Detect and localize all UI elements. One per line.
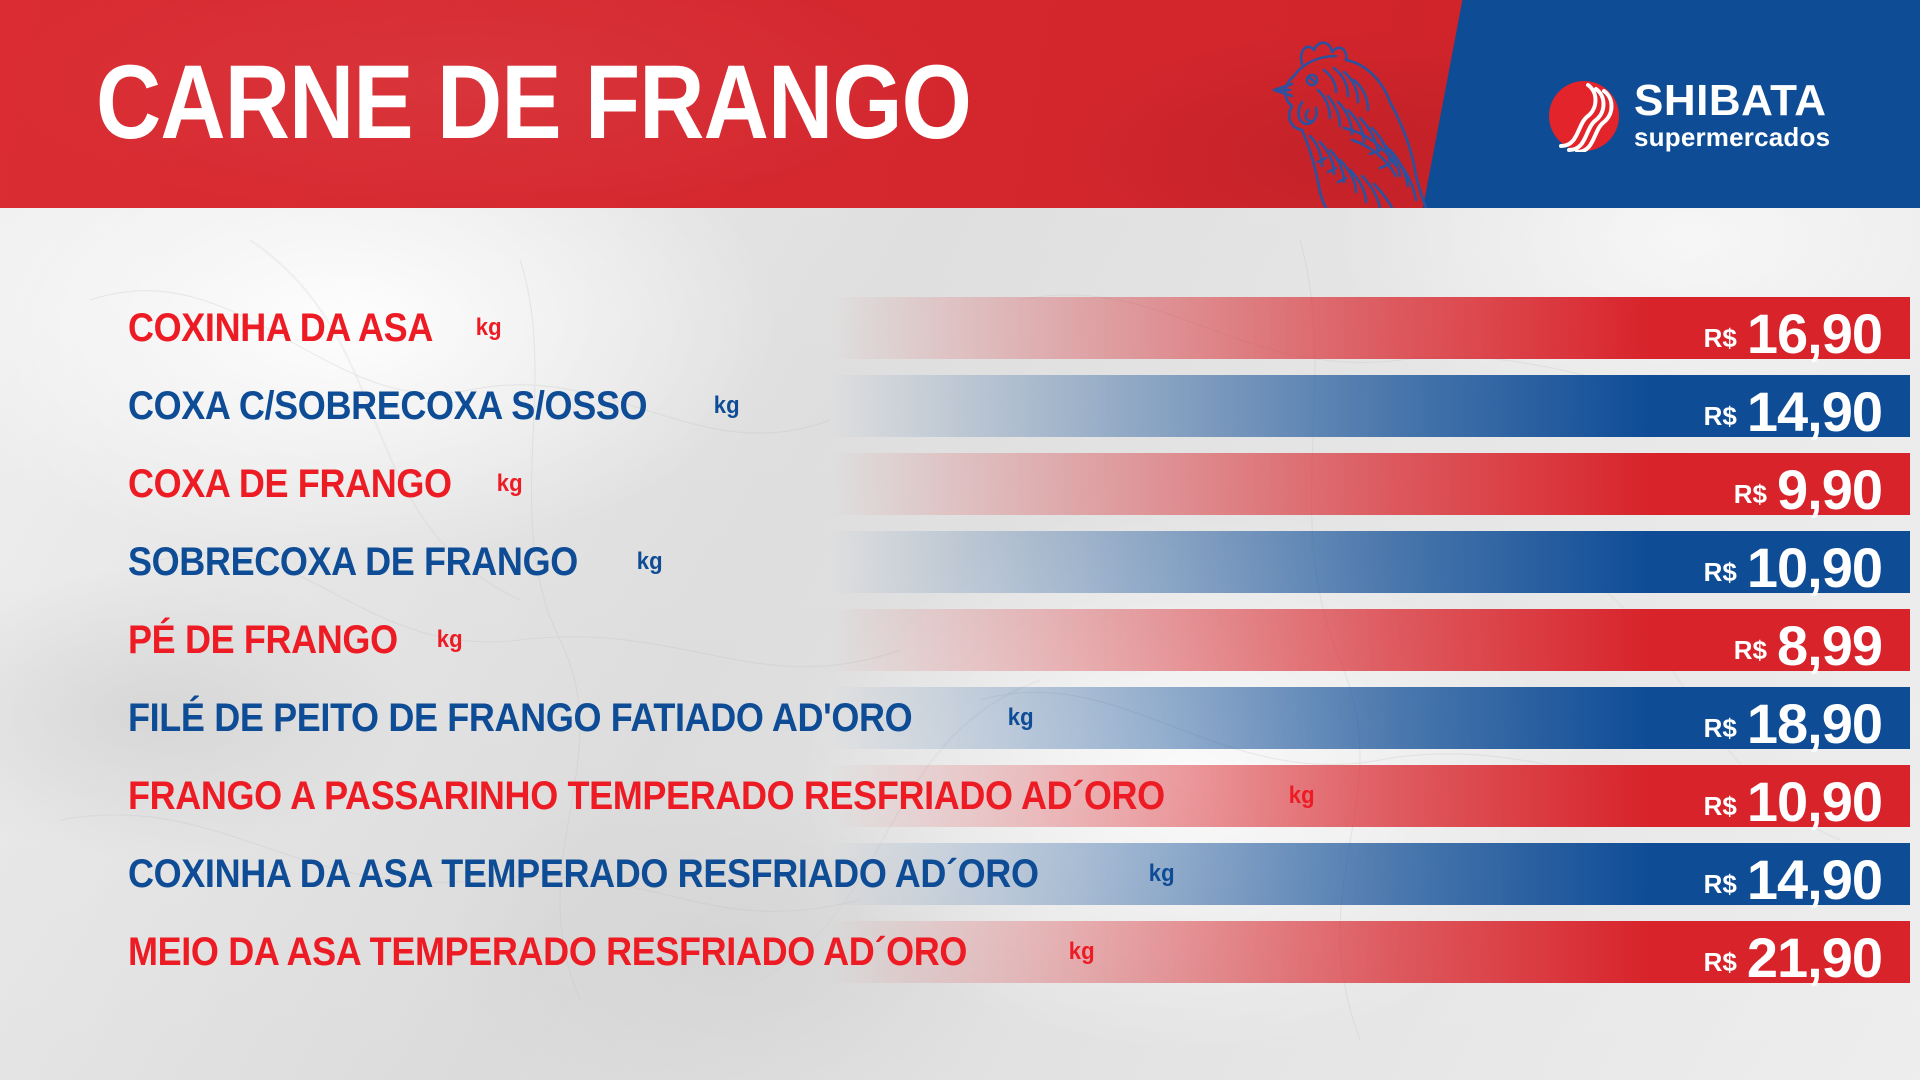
price-value: 10,90: [1747, 769, 1882, 834]
product-unit-label: kg: [629, 548, 662, 576]
product-unit-label: kg: [489, 470, 522, 498]
product-unit-label: kg: [1281, 782, 1314, 810]
product-name-label: FRANGO A PASSARINHO TEMPERADO RESFRIADO …: [128, 774, 1165, 819]
product-unit-label: kg: [706, 392, 739, 420]
shibata-logo-text: SHIBATA supermercados: [1634, 78, 1830, 151]
brand-name: SHIBATA: [1634, 78, 1830, 123]
product-name-label: MEIO DA ASA TEMPERADO RESFRIADO AD´ORO: [128, 930, 967, 975]
currency-symbol: R$: [1704, 323, 1747, 354]
price-value: 10,90: [1747, 535, 1882, 600]
product-name: SOBRECOXA DE FRANGOkg: [128, 531, 664, 593]
currency-symbol: R$: [1704, 869, 1747, 900]
product-unit-label: kg: [429, 626, 462, 654]
product-price: R$21,90: [1704, 921, 1882, 983]
page-title: CARNE DE FRANGO: [96, 50, 971, 155]
product-price: R$18,90: [1704, 687, 1882, 749]
product-name-label: FILÉ DE PEITO DE FRANGO FATIADO AD'ORO: [128, 696, 912, 741]
product-unit-label: kg: [1062, 938, 1095, 966]
product-name: COXA C/SOBRECOXA S/OSSOkg: [128, 375, 741, 437]
price-value: 21,90: [1747, 925, 1882, 990]
currency-symbol: R$: [1704, 713, 1747, 744]
product-name: PÉ DE FRANGOkg: [128, 609, 464, 671]
product-list: COXINHA DA ASAkgR$16,90COXA C/SOBRECOXA …: [0, 208, 1920, 1080]
price-value: 18,90: [1747, 691, 1882, 756]
product-name: COXINHA DA ASAkg: [128, 297, 503, 359]
price-value: 9,90: [1777, 457, 1882, 522]
price-value: 14,90: [1747, 847, 1882, 912]
currency-symbol: R$: [1704, 557, 1747, 588]
product-row: FRANGO A PASSARINHO TEMPERADO RESFRIADO …: [0, 765, 1920, 827]
price-list-poster: CARNE DE FRANGO: [0, 0, 1920, 1080]
currency-symbol: R$: [1734, 479, 1777, 510]
price-value: 14,90: [1747, 379, 1882, 444]
product-name: COXINHA DA ASA TEMPERADO RESFRIADO AD´OR…: [128, 843, 1176, 905]
product-name: COXA DE FRANGOkg: [128, 453, 524, 515]
product-row: COXINHA DA ASAkgR$16,90: [0, 297, 1920, 359]
price-value: 16,90: [1747, 301, 1882, 366]
product-name-label: COXA DE FRANGO: [128, 462, 452, 507]
product-row: MEIO DA ASA TEMPERADO RESFRIADO AD´OROkg…: [0, 921, 1920, 983]
shibata-swoosh-logo-icon: [1548, 80, 1620, 152]
product-name-label: COXA C/SOBRECOXA S/OSSO: [128, 384, 647, 429]
product-price: R$14,90: [1704, 843, 1882, 905]
currency-symbol: R$: [1704, 947, 1747, 978]
product-row: PÉ DE FRANGOkgR$8,99: [0, 609, 1920, 671]
shibata-logo: SHIBATA supermercados: [1548, 78, 1888, 158]
product-name-label: SOBRECOXA DE FRANGO: [128, 540, 578, 585]
product-price: R$9,90: [1734, 453, 1882, 515]
product-row: COXA DE FRANGOkgR$9,90: [0, 453, 1920, 515]
currency-symbol: R$: [1704, 791, 1747, 822]
product-name: MEIO DA ASA TEMPERADO RESFRIADO AD´OROkg: [128, 921, 1096, 983]
product-price: R$16,90: [1704, 297, 1882, 359]
product-unit-label: kg: [468, 314, 501, 342]
poster-header: CARNE DE FRANGO: [0, 0, 1920, 208]
product-name-label: COXINHA DA ASA TEMPERADO RESFRIADO AD´OR…: [128, 852, 1039, 897]
product-unit-label: kg: [1141, 860, 1174, 888]
product-name-label: COXINHA DA ASA: [128, 306, 433, 351]
currency-symbol: R$: [1704, 401, 1747, 432]
product-price: R$10,90: [1704, 531, 1882, 593]
brand-tagline: supermercados: [1634, 123, 1830, 151]
product-unit-label: kg: [1001, 704, 1034, 732]
product-name: FILÉ DE PEITO DE FRANGO FATIADO AD'OROkg: [128, 687, 1035, 749]
product-row: SOBRECOXA DE FRANGOkgR$10,90: [0, 531, 1920, 593]
product-name-label: PÉ DE FRANGO: [128, 618, 398, 663]
currency-symbol: R$: [1734, 635, 1777, 666]
product-price: R$14,90: [1704, 375, 1882, 437]
product-row: COXINHA DA ASA TEMPERADO RESFRIADO AD´OR…: [0, 843, 1920, 905]
product-price: R$8,99: [1734, 609, 1882, 671]
price-value: 8,99: [1777, 613, 1882, 678]
product-row: COXA C/SOBRECOXA S/OSSOkgR$14,90: [0, 375, 1920, 437]
product-row: FILÉ DE PEITO DE FRANGO FATIADO AD'OROkg…: [0, 687, 1920, 749]
rooster-icon: [1240, 24, 1470, 208]
product-price: R$10,90: [1704, 765, 1882, 827]
product-name: FRANGO A PASSARINHO TEMPERADO RESFRIADO …: [128, 765, 1316, 827]
